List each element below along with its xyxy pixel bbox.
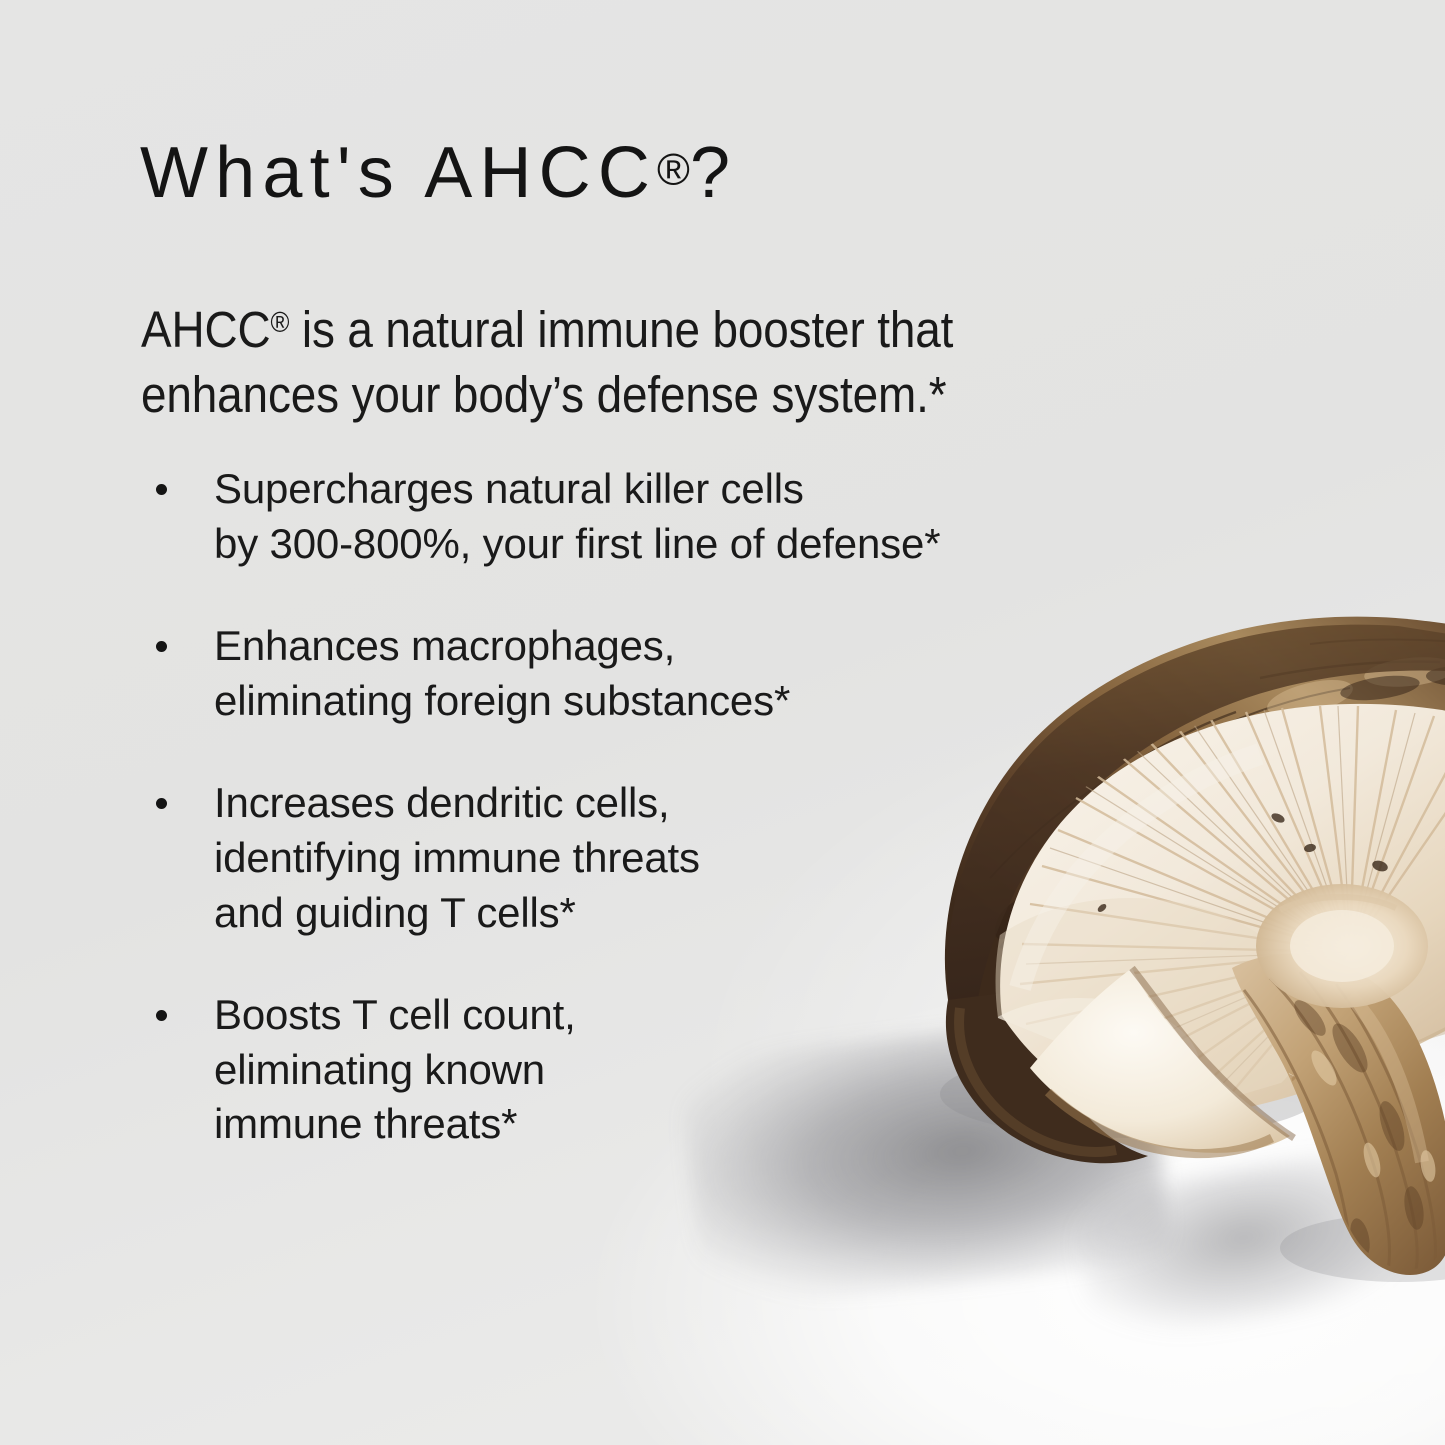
- page-title: What's AHCC®?: [140, 136, 737, 212]
- list-item: Increases dendritic cells, identifying i…: [150, 776, 1110, 940]
- bullet-dot-icon: [156, 641, 167, 652]
- bullet-dot-icon: [156, 484, 167, 495]
- registered-trademark-icon: ®: [657, 146, 690, 195]
- page-title-suffix: ?: [690, 133, 737, 213]
- list-item-label: Supercharges natural killer cells by 300…: [214, 465, 940, 567]
- list-item-label: Increases dendritic cells, identifying i…: [214, 779, 700, 935]
- list-item-label: Enhances macrophages, eliminating foreig…: [214, 622, 790, 724]
- page-title-text: What's AHCC: [140, 133, 657, 213]
- registered-trademark-icon: ®: [271, 307, 290, 339]
- ahcc-info-panel: What's AHCC®? AHCC® is a natural immune …: [0, 0, 1445, 1445]
- list-item-label: Boosts T cell count, eliminating known i…: [214, 991, 576, 1147]
- bullet-dot-icon: [156, 1010, 167, 1021]
- benefits-list: Supercharges natural killer cells by 300…: [150, 462, 1110, 1152]
- subtitle: AHCC® is a natural immune booster that e…: [141, 297, 1104, 428]
- list-item: Enhances macrophages, eliminating foreig…: [150, 619, 1110, 728]
- list-item: Supercharges natural killer cells by 300…: [150, 462, 1110, 571]
- list-item: Boosts T cell count, eliminating known i…: [150, 988, 1110, 1152]
- bullet-dot-icon: [156, 798, 167, 809]
- subtitle-prefix: AHCC: [141, 301, 271, 358]
